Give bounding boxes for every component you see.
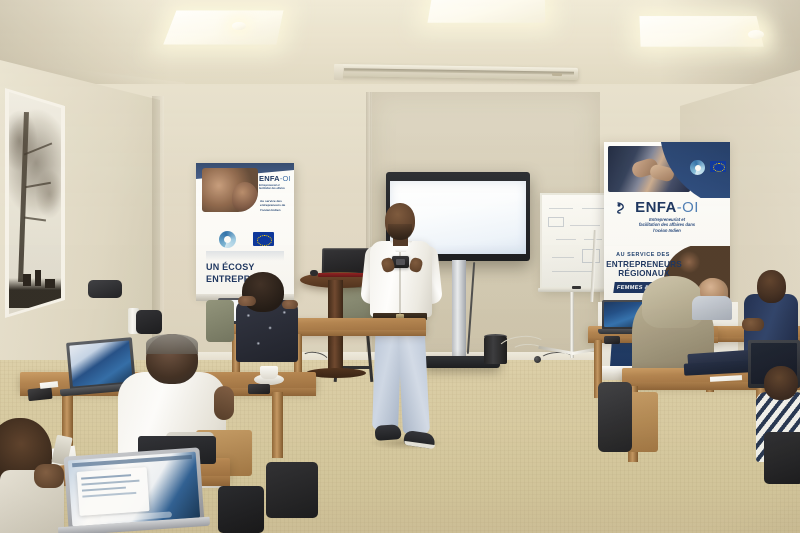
macbook-screen xyxy=(68,452,200,527)
whiteboard-caster xyxy=(534,356,541,363)
banner-left-brand-name: ENFA-OI xyxy=(259,175,292,183)
air-conditioner-vent xyxy=(344,68,574,75)
banner-left-faint-band xyxy=(206,251,284,261)
chair-cushion-dark xyxy=(598,382,632,452)
banner-left-photo-person xyxy=(232,182,258,212)
ceiling-led-panel-1 xyxy=(163,10,283,44)
air-conditioner-end-cap xyxy=(334,64,343,80)
bag-on-wall-ledge[interactable] xyxy=(88,280,122,298)
banner-left-headline-line1: UN ÉCOSY xyxy=(206,261,292,273)
circle-logo-icon xyxy=(690,160,705,175)
smartphone[interactable] xyxy=(248,384,270,394)
artwork-building xyxy=(23,274,31,286)
ceiling-spotlight-2 xyxy=(748,30,764,39)
artwork-building xyxy=(45,279,55,288)
banner-left-brand: ENFA-OI Entrepreneuriat et facilitation … xyxy=(259,175,292,190)
banner-left-enfa-oi: ENFA-OI Entrepreneuriat et facilitation … xyxy=(196,163,294,295)
laptop-bag[interactable] xyxy=(136,310,162,334)
whiteboard-stand-pole xyxy=(570,292,574,358)
participant-white-polo-hair xyxy=(146,334,198,354)
smartphone[interactable] xyxy=(604,336,620,344)
banner-left-tagline: Entrepreneuriat et facilitation des affa… xyxy=(259,184,292,190)
participant-navy-suit-head xyxy=(757,270,786,303)
participant-foreground-hand xyxy=(34,464,64,488)
tree-photograph-icon xyxy=(9,92,61,314)
air-conditioner-indicator xyxy=(552,73,562,76)
circle-logo-icon xyxy=(219,231,236,248)
desk-leg xyxy=(272,392,283,458)
participant-background-body xyxy=(692,296,732,320)
ceiling-led-panel-2 xyxy=(427,0,545,23)
whiteboard-box xyxy=(548,217,564,227)
banner-right-tagline-l3: l'océan Indien xyxy=(620,228,714,233)
banner-right-header xyxy=(604,142,730,198)
banner-right-brand-name: ENFA-OI xyxy=(604,200,730,216)
whiteboard-marker[interactable] xyxy=(572,286,581,289)
whiteboard-mark xyxy=(552,271,592,272)
tv-top-labels xyxy=(392,174,524,180)
laptop-screen xyxy=(69,340,132,386)
macbook-menubar xyxy=(72,455,192,467)
ceiling-led-panel-3 xyxy=(639,16,763,47)
room-photo-scene: ENFA-OI Entrepreneuriat et facilitation … xyxy=(0,0,800,533)
banner-left-photo xyxy=(202,168,258,212)
backpack-right[interactable] xyxy=(764,432,800,484)
whiteboard[interactable] xyxy=(540,193,612,289)
artwork-branch xyxy=(25,182,51,188)
podium-mouse[interactable] xyxy=(310,270,318,276)
podium-laptop-screen xyxy=(324,250,368,272)
participant-arm xyxy=(214,386,234,420)
eu-flag-icon xyxy=(253,232,274,246)
ceiling-spotlight-1 xyxy=(232,22,246,30)
banner-left-logo-row xyxy=(210,229,282,249)
banner-right-tagline: Entrepreneuriat et facilitation des affa… xyxy=(604,217,730,233)
participant-woman-back-left-hair xyxy=(242,272,284,312)
banner-right-headline-l1: AU SERVICE DES xyxy=(608,252,678,258)
presenter-beard xyxy=(388,224,412,240)
presenter-torso xyxy=(370,241,432,317)
tv-stand-pole xyxy=(452,260,466,360)
banner-right-brand: ENFA-OI Entrepreneuriat et facilitation … xyxy=(604,200,730,233)
artwork-branch xyxy=(24,142,53,155)
artwork-branch xyxy=(24,216,46,221)
whiteboard-mark xyxy=(549,208,573,209)
whiteboard-mark xyxy=(570,225,600,226)
backpack-front[interactable] xyxy=(218,486,264,533)
whiteboard-mark xyxy=(556,239,576,240)
banner-right-headline-l2: ENTREPRENEURS xyxy=(606,260,682,269)
participant-hand xyxy=(282,300,298,309)
wall-artwork-frame xyxy=(5,88,65,318)
whiteboard-mark xyxy=(552,257,574,258)
presenter-shoe-left xyxy=(375,424,402,441)
artwork-tree-trunk xyxy=(18,112,29,282)
participant-hand xyxy=(238,296,256,306)
whiteboard-mark xyxy=(582,208,604,209)
coffee-cup[interactable] xyxy=(260,366,278,379)
whiteboard-box xyxy=(582,249,600,263)
participant-navy-suit-hand xyxy=(742,318,764,331)
artwork-building xyxy=(35,270,41,286)
participant-striped-head xyxy=(764,366,798,400)
banner-left-subtitle: Au service des entrepreneurs de l'océan … xyxy=(260,199,292,212)
eu-flag-icon xyxy=(710,161,726,172)
backpack-left[interactable] xyxy=(266,462,318,518)
chair-green[interactable] xyxy=(206,300,234,342)
